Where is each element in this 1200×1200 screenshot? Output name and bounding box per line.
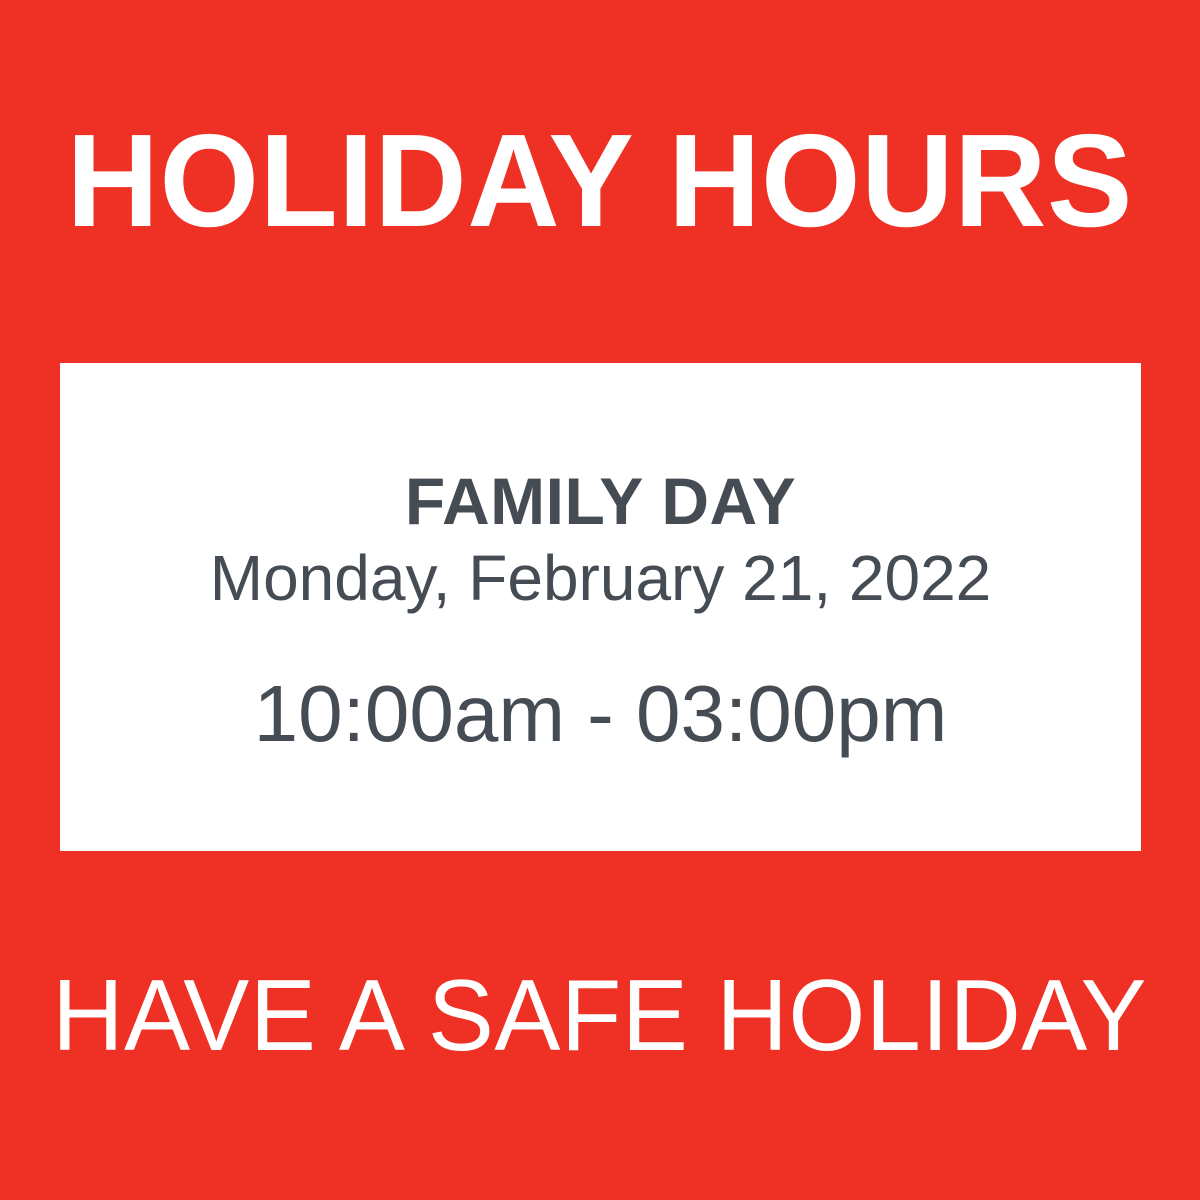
- title-banner: HOLIDAY HOURS: [0, 0, 1200, 352]
- event-name: FAMILY DAY: [60, 466, 1141, 537]
- footer-message: HAVE A SAFE HOLIDAY: [53, 966, 1148, 1067]
- event-hours: 10:00am - 03:00pm: [60, 670, 1141, 758]
- hours-card-content: FAMILY DAY Monday, February 21, 2022 10:…: [60, 456, 1141, 759]
- footer-banner: HAVE A SAFE HOLIDAY: [0, 851, 1200, 1200]
- holiday-hours-poster: HOLIDAY HOURS FAMILY DAY Monday, Februar…: [0, 0, 1200, 1200]
- page-title: HOLIDAY HOURS: [67, 115, 1133, 247]
- hours-card: FAMILY DAY Monday, February 21, 2022 10:…: [60, 363, 1141, 851]
- event-date: Monday, February 21, 2022: [60, 543, 1141, 615]
